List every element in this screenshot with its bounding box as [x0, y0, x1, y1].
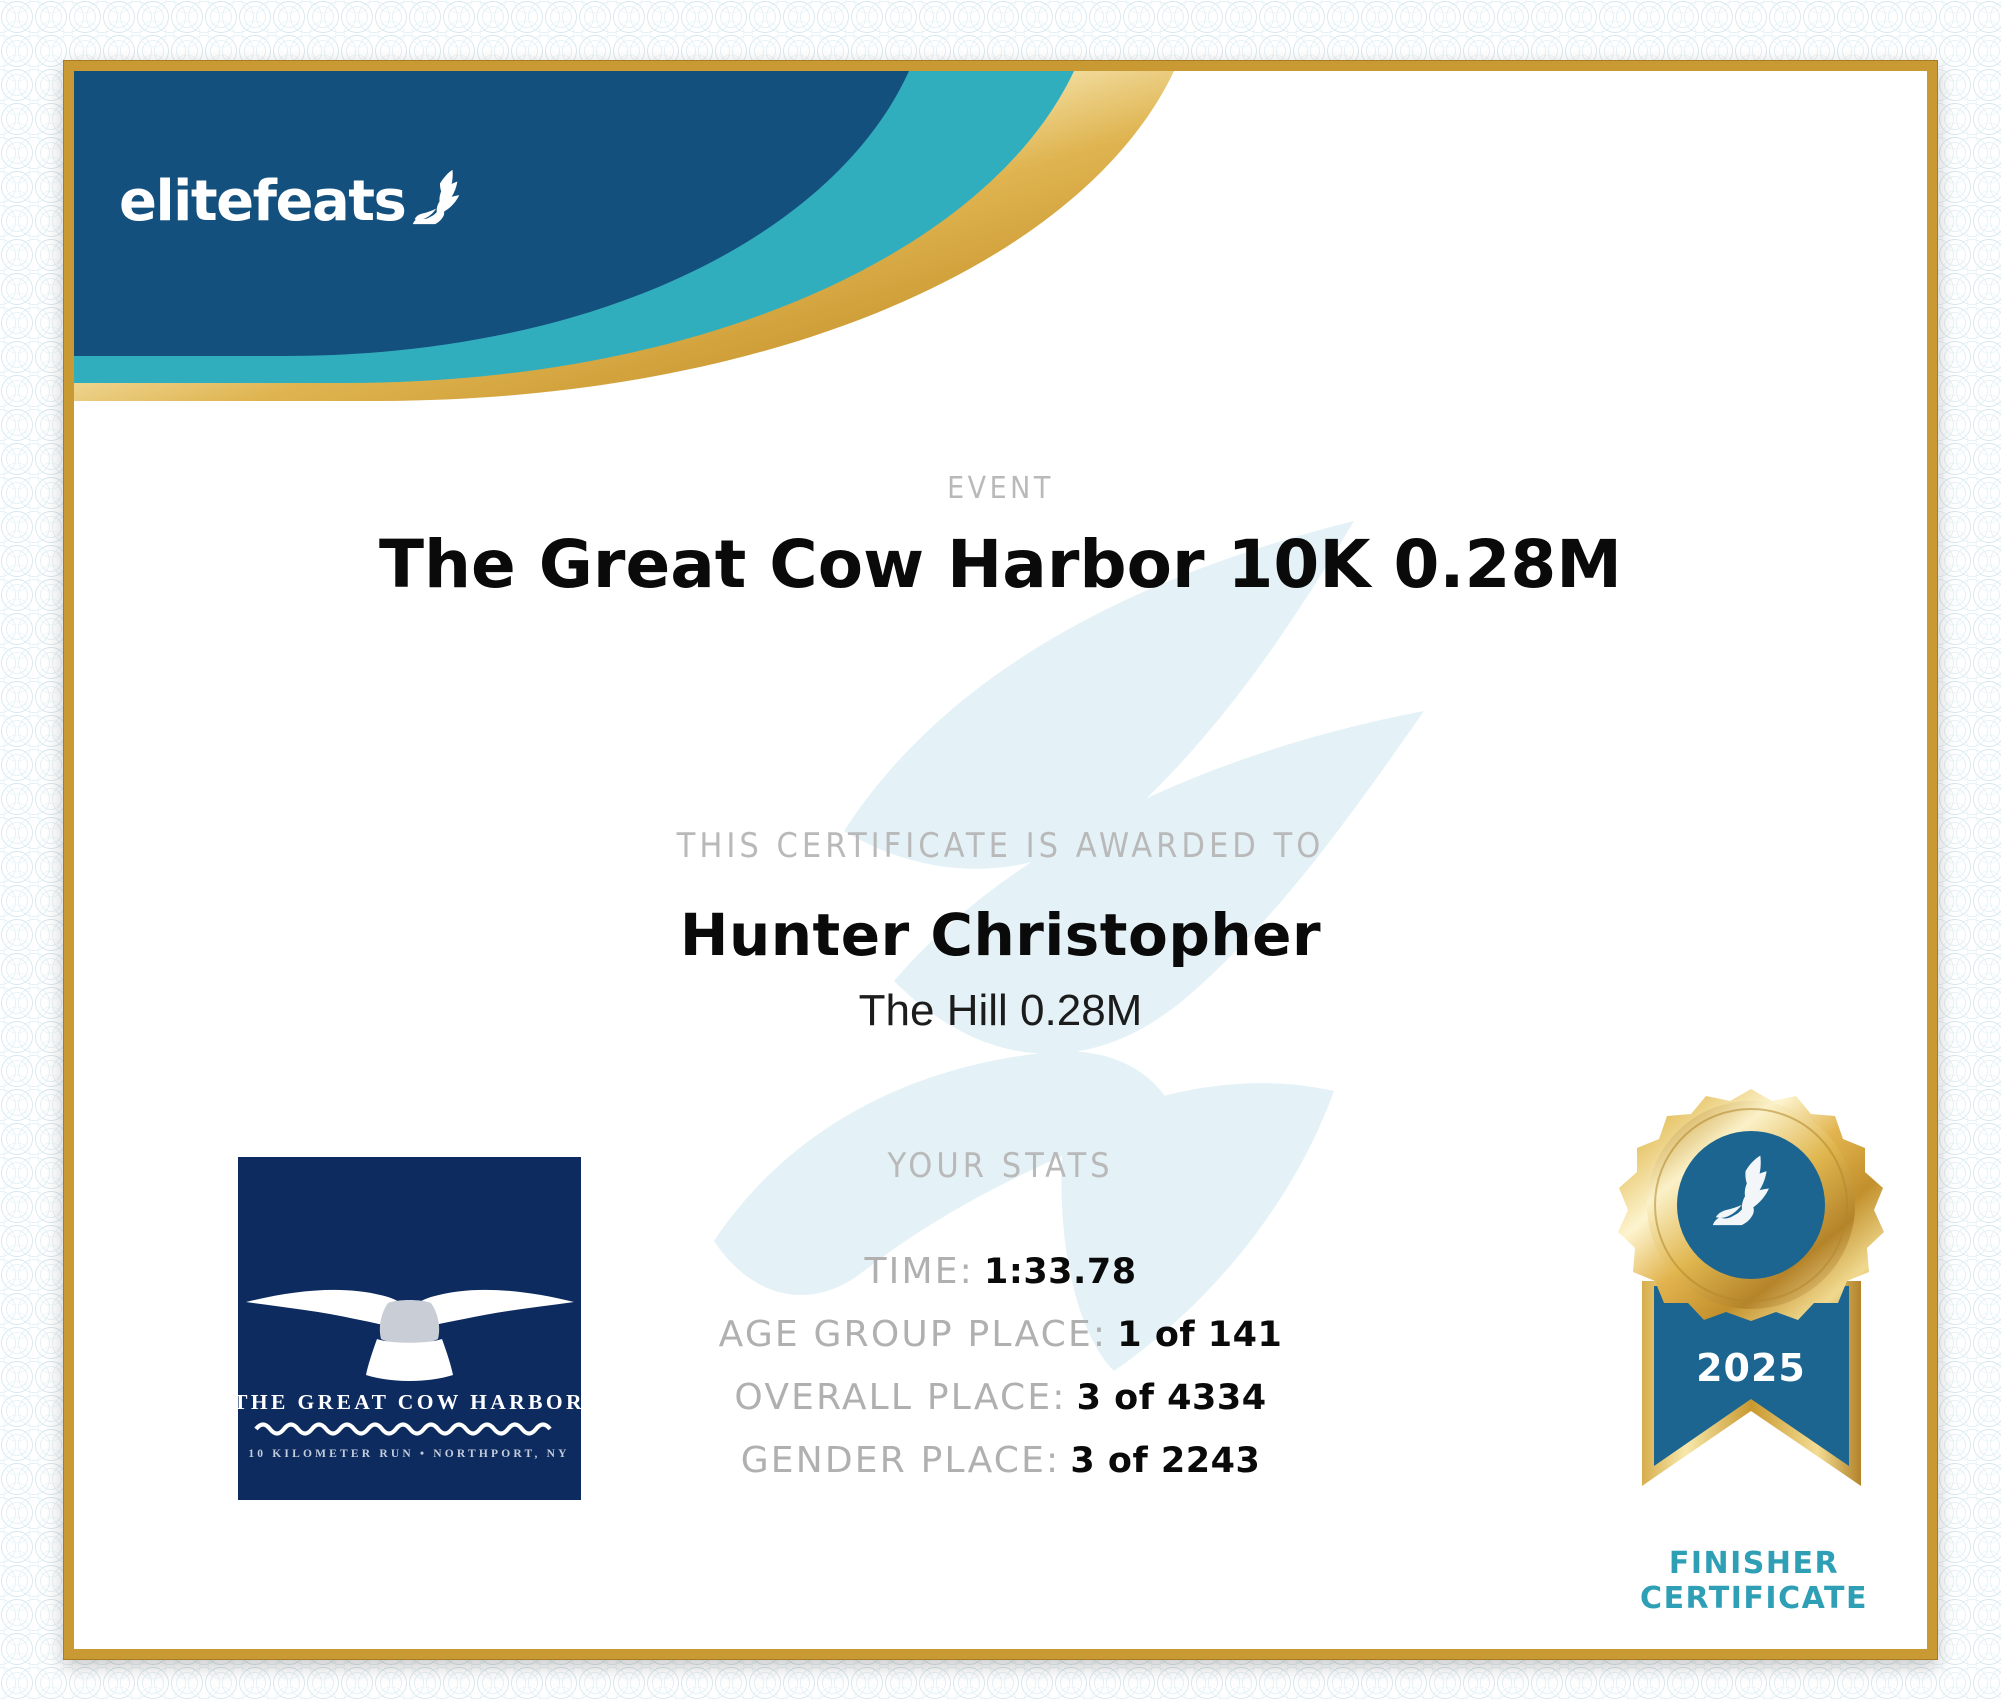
awarded-to-label: THIS CERTIFICATE IS AWARDED TO: [74, 826, 1927, 866]
stat-key: AGE GROUP PLACE:: [719, 1314, 1108, 1355]
stat-value: 1 of 141: [1117, 1315, 1282, 1355]
stat-value: 1:33.78: [984, 1252, 1137, 1292]
race-logo-name: THE GREAT COW HARBOR: [238, 1390, 581, 1414]
elitefeats-wordmark: elitefeats: [119, 169, 405, 234]
stat-value: 3 of 4334: [1077, 1378, 1267, 1418]
medal-disc: [1618, 1089, 1884, 1321]
race-logo: THE GREAT COW HARBOR 10 KILOMETER RUN • …: [238, 1157, 581, 1500]
race-logo-art: THE GREAT COW HARBOR 10 KILOMETER RUN • …: [238, 1157, 581, 1500]
race-logo-tagline: 10 KILOMETER RUN • NORTHPORT, NY: [248, 1448, 569, 1460]
header-swoosh-art: [74, 71, 1174, 401]
recipient-name: Hunter Christopher: [74, 901, 1927, 969]
badge-caption-line2: CERTIFICATE: [1574, 1581, 1927, 1616]
event-title: The Great Cow Harbor 10K 0.28M: [74, 526, 1927, 603]
stat-key: TIME:: [864, 1251, 974, 1292]
recipient-subtitle: The Hill 0.28M: [74, 986, 1927, 1036]
event-label: EVENT: [74, 471, 1927, 506]
badge-caption-line1: FINISHER: [1574, 1546, 1927, 1581]
badge-caption: FINISHER CERTIFICATE: [1574, 1546, 1927, 1617]
medal-year: 2025: [1696, 1346, 1806, 1390]
winged-foot-icon: [407, 166, 469, 228]
certificate-paper: elitefeats EVENT The Great Cow Harbor 10…: [0, 0, 2001, 1700]
elitefeats-logo: elitefeats: [119, 166, 469, 236]
finisher-medal-badge: 2025: [1604, 1081, 1899, 1521]
stat-key: OVERALL PLACE:: [734, 1377, 1066, 1418]
certificate-body: elitefeats EVENT The Great Cow Harbor 10…: [74, 71, 1927, 1649]
stat-key: GENDER PLACE:: [741, 1440, 1061, 1481]
stat-value: 3 of 2243: [1070, 1441, 1260, 1481]
gold-frame: elitefeats EVENT The Great Cow Harbor 10…: [63, 60, 1938, 1660]
